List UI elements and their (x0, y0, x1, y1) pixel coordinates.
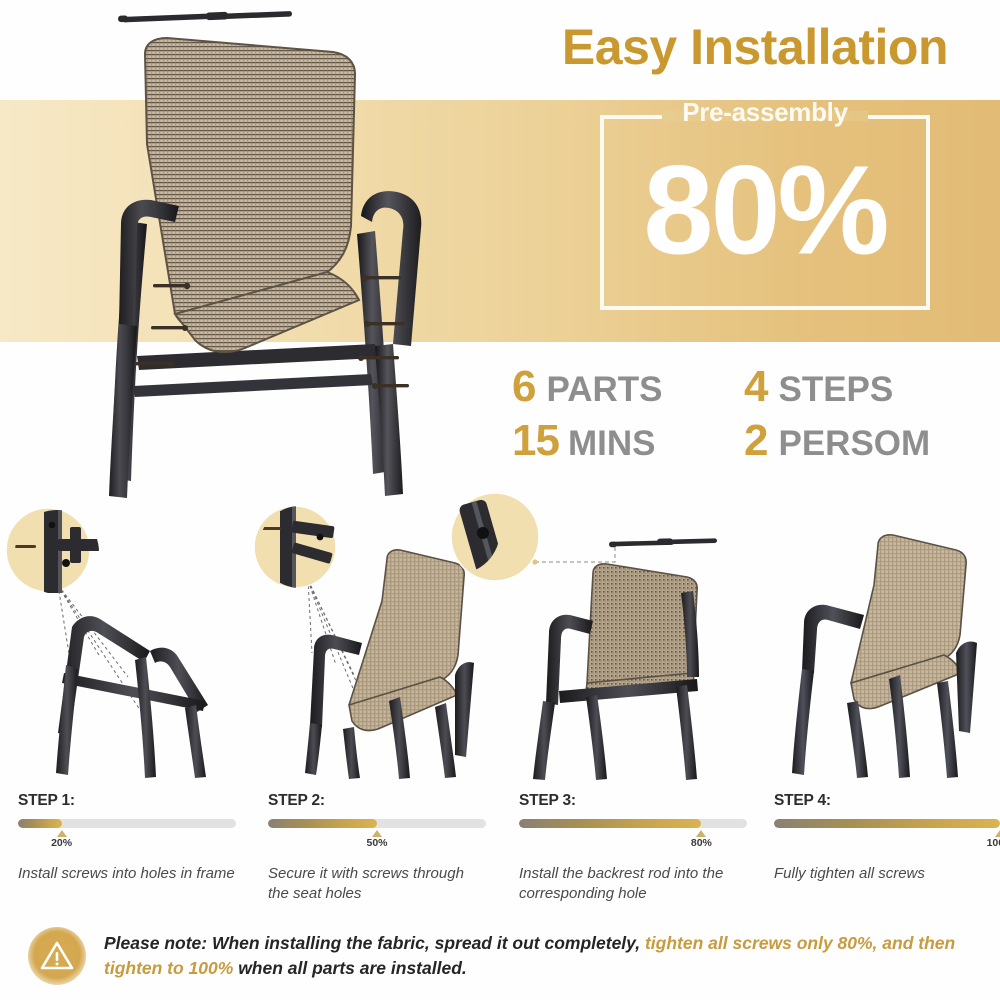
step-2-progress-label: 50% (366, 837, 387, 849)
stat-mins-number: 15 (512, 416, 559, 466)
stats-grid: 6 PARTS 4 STEPS 15 MINS 2 PERSOM (512, 362, 982, 466)
step-1-info: STEP 1: 20% Install screws into holes in… (18, 792, 236, 884)
step-1-progress-fill (18, 819, 62, 828)
step-4-info: STEP 4: 100% Fully tighten all screws (774, 792, 1000, 884)
step-3-progress-fill (519, 819, 701, 828)
step-4-caption: Fully tighten all screws (774, 864, 1000, 884)
step-4-progress-marker (995, 830, 1000, 837)
step-1-progress: 20% (18, 819, 236, 828)
badge-percent-value: 80% (600, 147, 930, 273)
stat-parts-number: 6 (512, 362, 535, 412)
step-panel-1: STEP 1: 20% Install screws into holes in… (0, 505, 250, 905)
infographic-root: Easy Installation Pre-assembly 80% 6 PAR… (0, 0, 1000, 1000)
step-1-progress-label: 20% (51, 837, 72, 849)
footer-note: Please note: When installing the fabric,… (0, 912, 1000, 1000)
step-panel-3: STEP 3: 80% Install the backrest rod int… (507, 505, 757, 905)
step-3-caption: Install the backrest rod into the corres… (519, 864, 747, 904)
warning-triangle-icon (40, 940, 74, 972)
step-1-caption: Install screws into holes in frame (18, 864, 236, 884)
stat-steps: 4 STEPS (744, 362, 982, 412)
step-3-info: STEP 3: 80% Install the backrest rod int… (519, 792, 747, 904)
step-3-progress: 80% (519, 819, 747, 828)
step-panel-4: STEP 4: 100% Fully tighten all screws (760, 505, 1000, 905)
step-4-progress-fill (774, 819, 1000, 828)
stat-steps-label: STEPS (778, 370, 893, 410)
step-3-illustration (497, 505, 747, 780)
step-2-progress: 50% (268, 819, 486, 828)
stat-mins-label: MINS (568, 424, 656, 464)
step-2-progress-track (268, 819, 486, 828)
step-2-progress-marker (372, 830, 382, 837)
step-3-progress-label: 80% (691, 837, 712, 849)
stat-parts: 6 PARTS (512, 362, 744, 412)
step-3-progress-marker (696, 830, 706, 837)
stat-parts-label: PARTS (546, 370, 662, 410)
step-4-illustration (760, 505, 1000, 780)
step-3-title: STEP 3: (519, 792, 747, 810)
stat-mins: 15 MINS (512, 416, 744, 466)
warning-icon (28, 927, 86, 985)
note-part-2: when all parts are installed. (233, 958, 466, 978)
stat-person-number: 2 (744, 416, 767, 466)
step-3-progress-track (519, 819, 747, 828)
step-4-title: STEP 4: (774, 792, 1000, 810)
step-4-progress-label: 100% (987, 837, 1000, 849)
step-1-illustration (0, 505, 250, 780)
hero-chair-illustration (75, 26, 495, 506)
stat-steps-number: 4 (744, 362, 767, 412)
step-1-progress-marker (57, 830, 67, 837)
step-4-progress: 100% (774, 819, 1000, 828)
step-1-progress-track (18, 819, 236, 828)
stat-person-label: PERSOM (778, 424, 930, 464)
step-2-info: STEP 2: 50% Secure it with screws throug… (268, 792, 486, 904)
steps-section: STEP 1: 20% Install screws into holes in… (0, 505, 1000, 905)
page-title: Easy Installation (562, 18, 948, 76)
stat-person: 2 PERSOM (744, 416, 982, 466)
note-part-1: Please note: When installing the fabric,… (104, 933, 645, 953)
step-2-title: STEP 2: (268, 792, 486, 810)
step-1-title: STEP 1: (18, 792, 236, 810)
step-2-caption: Secure it with screws through the seat h… (268, 864, 486, 904)
pre-assembly-badge: Pre-assembly 80% (600, 115, 930, 310)
step-4-progress-track (774, 819, 1000, 828)
footer-note-text: Please note: When installing the fabric,… (104, 931, 984, 981)
step-2-progress-fill (268, 819, 377, 828)
badge-label: Pre-assembly (682, 97, 848, 128)
